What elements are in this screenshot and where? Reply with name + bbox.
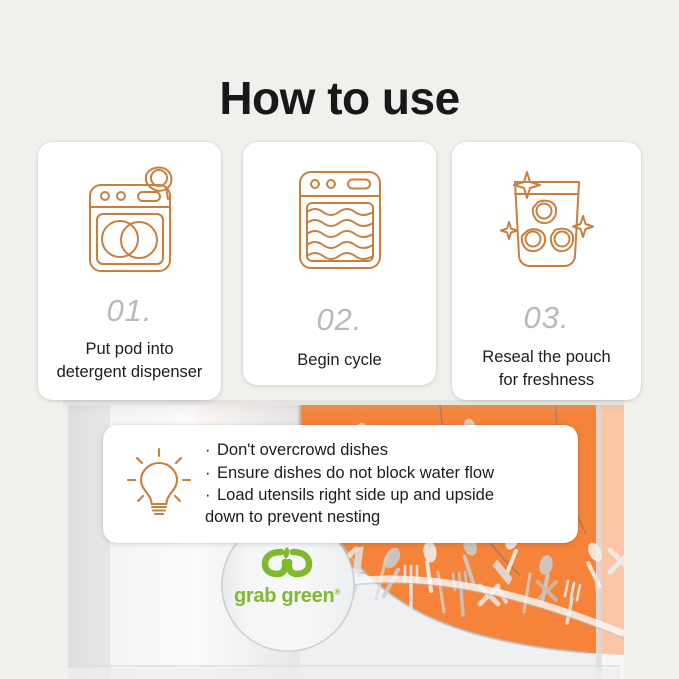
- brand-name-text: grab green: [234, 585, 334, 607]
- step-label-1-line2: detergent dispenser: [57, 363, 203, 381]
- tip-item-3-continued: down to prevent nesting: [205, 506, 564, 528]
- step-card-3: 03. Reseal the pouch for freshness: [452, 142, 641, 400]
- step-number-3: 03.: [523, 302, 569, 333]
- step-number-2: 02.: [316, 304, 362, 335]
- lightbulb-icon: [113, 447, 205, 521]
- grab-green-leaf-icon: [259, 545, 315, 579]
- step-label-1-line1: Put pod into: [85, 340, 173, 358]
- step-label-1: Put pod into detergent dispenser: [51, 338, 209, 384]
- step-label-3-line2: for freshness: [499, 371, 594, 389]
- washing-machine-with-pod-icon: [76, 156, 184, 281]
- brand-logo: grab green®: [232, 545, 342, 606]
- step-number-1: 01.: [106, 295, 152, 326]
- step-label-2: Begin cycle: [291, 349, 387, 372]
- washing-machine-water-cycle-icon: [292, 160, 388, 280]
- step-card-1: 01. Put pod into detergent dispenser: [38, 142, 221, 400]
- brand-wordmark: grab green®: [232, 586, 342, 606]
- tip-item-2: Ensure dishes do not block water flow: [205, 462, 564, 484]
- step-label-3-line1: Reseal the pouch: [482, 348, 610, 366]
- step-card-2: 02. Begin cycle: [243, 142, 436, 385]
- resealable-pouch-with-pods-icon: [493, 160, 601, 280]
- step-label-3: Reseal the pouch for freshness: [476, 346, 616, 392]
- tip-item-3: Load utensils right side up and upside: [205, 484, 564, 506]
- tips-card: Don't overcrowd dishes Ensure dishes do …: [103, 425, 578, 543]
- tips-list: Don't overcrowd dishes Ensure dishes do …: [205, 439, 578, 528]
- registered-trademark-symbol: ®: [334, 587, 340, 596]
- tip-item-1: Don't overcrowd dishes: [205, 439, 564, 461]
- page-title: How to use: [0, 71, 679, 125]
